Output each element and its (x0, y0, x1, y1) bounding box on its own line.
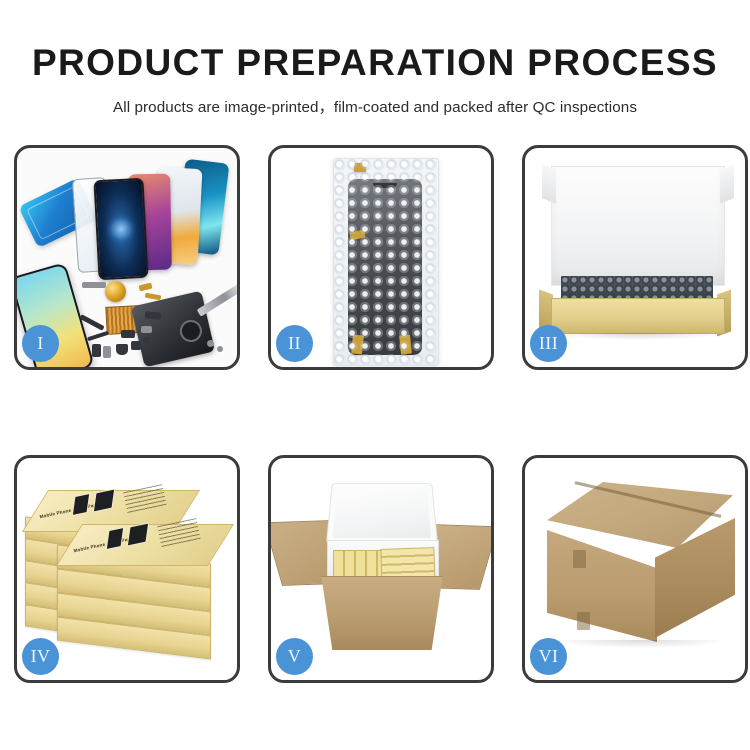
tape-tab-icon (354, 163, 366, 172)
step-panel-3: III (522, 145, 748, 370)
small-part-icon (138, 283, 152, 292)
step-panel-2: II (268, 145, 494, 370)
bubble-wrap-bag-icon (333, 158, 439, 366)
small-part-icon (131, 341, 141, 350)
page-title: PRODUCT PREPARATION PROCESS (0, 0, 750, 83)
small-part-icon (92, 344, 101, 357)
screen-assembly-icon (348, 179, 422, 355)
small-part-icon (82, 282, 106, 288)
gold-coil-part-icon (105, 281, 126, 302)
shipping-carton-body-icon (313, 576, 451, 650)
header: PRODUCT PREPARATION PROCESS All products… (0, 0, 750, 117)
phone-blue-glow-icon (93, 178, 148, 280)
step-badge-6: VI (530, 638, 567, 675)
tape-tab-icon (399, 334, 412, 354)
product-preparation-infographic: PRODUCT PREPARATION PROCESS All products… (0, 0, 750, 750)
small-part-icon (141, 326, 152, 333)
step-panel-5: V (268, 455, 494, 683)
step-badge-3: III (530, 325, 567, 362)
small-part-icon (103, 346, 111, 358)
foam-lid-icon (326, 483, 438, 544)
screw-icon (207, 340, 214, 347)
components-and-screens-image: I (17, 148, 237, 367)
tape-tab-icon (351, 334, 364, 354)
step-badge-5: V (276, 638, 313, 675)
step-panel-1: I (14, 145, 240, 370)
small-part-icon (116, 344, 128, 355)
kraft-box-front-icon (551, 298, 725, 334)
retail-boxes-stacked-image: Mobile Phone Spare Parts Mobile Phone Sp… (17, 458, 237, 680)
carton-tape-icon (577, 612, 590, 630)
sealed-shipping-carton-image: VI (525, 458, 745, 680)
bubble-wrapped-screen-image: II (271, 148, 491, 367)
small-part-icon (121, 330, 135, 338)
carton-left-face-icon (547, 530, 657, 642)
carton-tape-icon (573, 550, 586, 568)
step-panel-6: VI (522, 455, 748, 683)
carton-shadow (555, 640, 727, 648)
foam-carton-loading-image: V (271, 458, 491, 680)
small-part-icon (143, 337, 150, 344)
foam-sheet-icon (551, 166, 725, 286)
box-shadow (553, 333, 721, 340)
screw-icon (217, 346, 223, 352)
inner-box-packing-image: III (525, 148, 745, 367)
flex-cable-icon (87, 331, 109, 342)
step-badge-4: IV (22, 638, 59, 675)
page-subtitle: All products are image-printed，film-coat… (0, 83, 750, 117)
step-badge-1: I (22, 325, 59, 362)
process-step-grid: I II (14, 145, 737, 684)
step-badge-2: II (276, 325, 313, 362)
step-panel-4: Mobile Phone Spare Parts Mobile Phone Sp… (14, 455, 240, 683)
small-part-icon (145, 293, 162, 301)
